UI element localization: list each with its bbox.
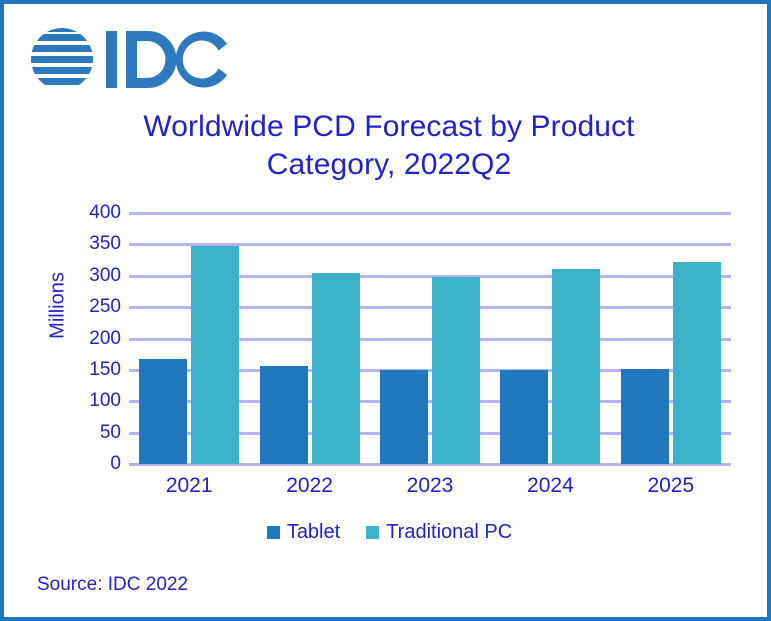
- x-tick-2022: 2022: [245, 474, 375, 498]
- legend-label-0: Tablet: [287, 522, 340, 542]
- chart-legend: TabletTraditional PC: [4, 522, 771, 542]
- legend-item-tablet[interactable]: Tablet: [267, 522, 340, 542]
- x-tick-2024: 2024: [485, 474, 615, 498]
- legend-label-1: Traditional PC: [386, 522, 512, 542]
- x-tick-2023: 2023: [365, 474, 495, 498]
- chart-page: Worldwide PCD Forecast by Product Catego…: [0, 0, 771, 621]
- legend-item-traditional-pc[interactable]: Traditional PC: [366, 522, 512, 542]
- x-tick-2021: 2021: [124, 474, 254, 498]
- legend-swatch-traditional-pc: [366, 526, 379, 539]
- legend-swatch-tablet: [267, 526, 280, 539]
- x-tick-2025: 2025: [606, 474, 736, 498]
- source-note: Source: IDC 2022: [37, 574, 188, 596]
